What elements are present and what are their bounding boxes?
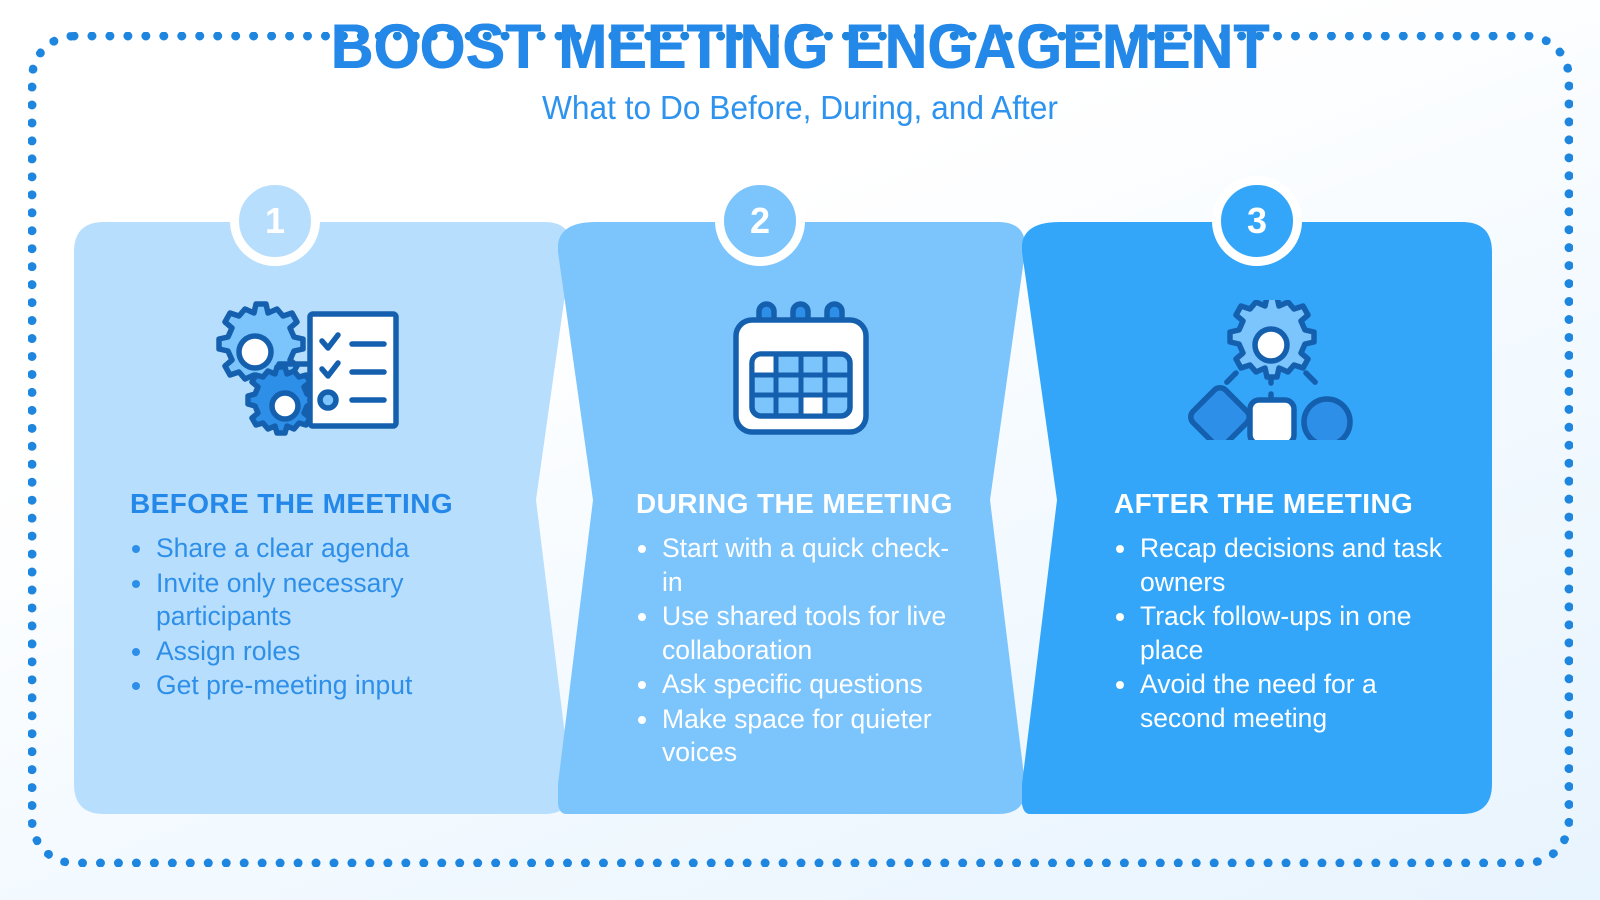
gears-checklist-icon xyxy=(74,300,574,440)
card-3-bullet-list: Recap decisions and task owners Track fo… xyxy=(1114,532,1459,736)
list-item: Recap decisions and task owners xyxy=(1114,532,1459,599)
calendar-icon xyxy=(558,300,1028,440)
list-item: Get pre-meeting input xyxy=(130,669,490,703)
step-badge-2: 2 xyxy=(715,176,805,266)
card-3-title: AFTER THE MEETING xyxy=(1114,488,1413,520)
card-2-bullet-list: Start with a quick check-in Use shared t… xyxy=(636,532,966,771)
list-item: Make space for quieter voices xyxy=(636,703,966,770)
list-item: Avoid the need for a second meeting xyxy=(1114,668,1459,735)
gear-network-icon xyxy=(1022,300,1492,440)
list-item: Assign roles xyxy=(130,635,490,669)
step-card-before[interactable]: BEFORE THE MEETING Share a clear agenda … xyxy=(74,222,574,814)
list-item: Track follow-ups in one place xyxy=(1114,600,1459,667)
list-item: Ask specific questions xyxy=(636,668,966,702)
step-card-during[interactable]: DURING THE MEETING Start with a quick ch… xyxy=(558,222,1028,814)
step-card-after[interactable]: AFTER THE MEETING Recap decisions and ta… xyxy=(1022,222,1492,814)
card-1-title: BEFORE THE MEETING xyxy=(130,488,453,520)
infographic-canvas: BOOST MEETING ENGAGEMENT What to Do Befo… xyxy=(0,0,1600,900)
step-badge-1: 1 xyxy=(230,176,320,266)
page-title: BOOST MEETING ENGAGEMENT xyxy=(56,0,1544,82)
step-badge-1-number: 1 xyxy=(265,200,285,242)
list-item: Invite only necessary participants xyxy=(130,567,490,634)
list-item: Share a clear agenda xyxy=(130,532,490,566)
page-subtitle: What to Do Before, During, and After xyxy=(32,88,1568,128)
steps-row: BEFORE THE MEETING Share a clear agenda … xyxy=(0,222,1600,822)
header: BOOST MEETING ENGAGEMENT What to Do Befo… xyxy=(0,0,1600,128)
list-item: Start with a quick check-in xyxy=(636,532,966,599)
card-1-bullet-list: Share a clear agenda Invite only necessa… xyxy=(130,532,490,704)
step-badge-3: 3 xyxy=(1212,176,1302,266)
step-badge-2-number: 2 xyxy=(750,200,770,242)
step-badge-3-number: 3 xyxy=(1247,200,1267,242)
card-2-title: DURING THE MEETING xyxy=(636,488,953,520)
list-item: Use shared tools for live collaboration xyxy=(636,600,966,667)
